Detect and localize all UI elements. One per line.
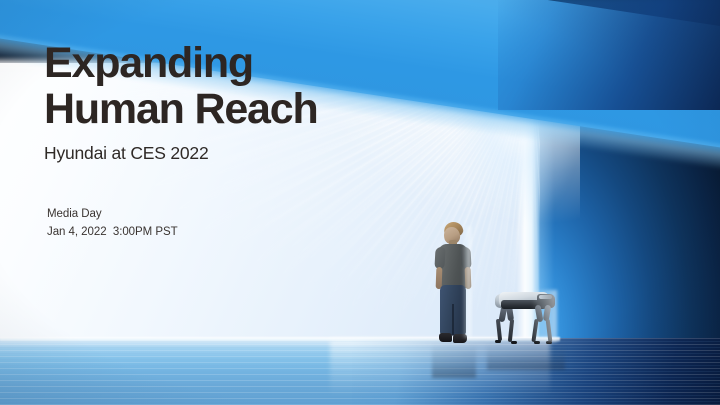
hero-text-block: Expanding Human Reach Hyundai at CES 202…: [44, 40, 404, 242]
event-datetime: Jan 4, 2022 3:00PM PST: [47, 224, 404, 242]
hero-subtitle: Hyundai at CES 2022: [44, 143, 404, 164]
event-label: Media Day: [47, 206, 404, 224]
hyundai-ces-2022-key-visual: Expanding Human Reach Hyundai at CES 202…: [0, 0, 720, 405]
page-title: Expanding Human Reach: [44, 40, 404, 132]
event-details: Media Day Jan 4, 2022 3:00PM PST: [47, 206, 404, 242]
